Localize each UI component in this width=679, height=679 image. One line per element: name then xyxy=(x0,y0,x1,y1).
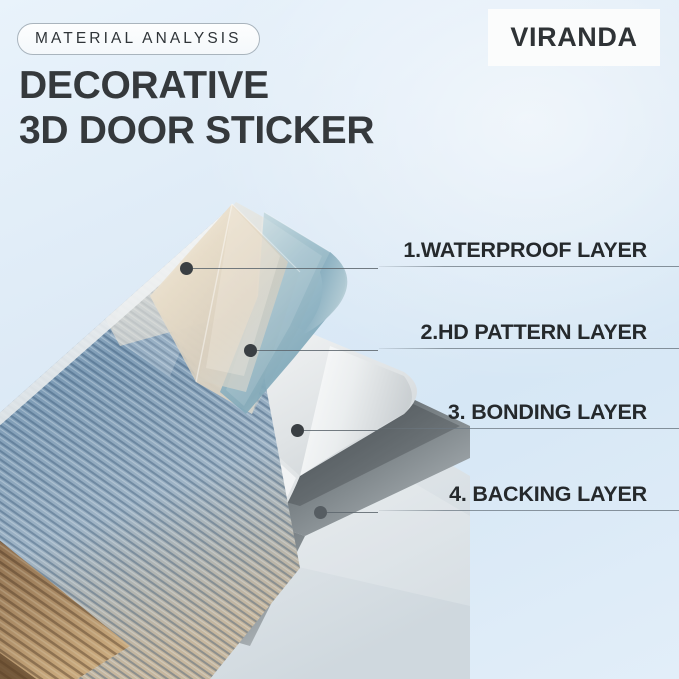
callout-1-rule xyxy=(379,266,679,267)
title-line-1: DECORATIVE xyxy=(19,66,374,105)
callout-3-rule xyxy=(379,428,679,429)
callout-leader-3 xyxy=(304,430,378,431)
callout-label-2: 2.HD PATTERN LAYER xyxy=(379,320,649,349)
callout-leader-4 xyxy=(327,512,378,513)
callout-2-rule xyxy=(379,348,679,349)
callout-leader-2 xyxy=(257,350,378,351)
page-title: DECORATIVE 3D DOOR STICKER xyxy=(19,66,374,156)
callout-dot-4 xyxy=(314,506,327,519)
callout-dot-1 xyxy=(180,262,193,275)
callout-4-rule xyxy=(379,510,679,511)
brand-logo: VIRANDA xyxy=(488,9,660,66)
callout-3-text: 3. BONDING LAYER xyxy=(446,400,649,428)
poster-canvas: MATERIAL ANALYSIS DECORATIVE 3D DOOR STI… xyxy=(0,0,679,679)
callout-2-text: 2.HD PATTERN LAYER xyxy=(418,320,649,348)
callout-1-text: 1.WATERPROOF LAYER xyxy=(401,238,649,266)
callout-4-text: 4. BACKING LAYER xyxy=(447,482,649,510)
material-analysis-badge: MATERIAL ANALYSIS xyxy=(17,23,260,55)
badge-label: MATERIAL ANALYSIS xyxy=(35,30,242,48)
callout-dot-3 xyxy=(291,424,304,437)
callout-dot-2 xyxy=(244,344,257,357)
title-line-2: 3D DOOR STICKER xyxy=(19,111,374,150)
callout-label-4: 4. BACKING LAYER xyxy=(379,482,649,511)
callout-label-3: 3. BONDING LAYER xyxy=(379,400,649,429)
brand-name: VIRANDA xyxy=(510,22,637,53)
callout-label-1: 1.WATERPROOF LAYER xyxy=(379,238,649,267)
callout-leader-1 xyxy=(193,268,378,269)
